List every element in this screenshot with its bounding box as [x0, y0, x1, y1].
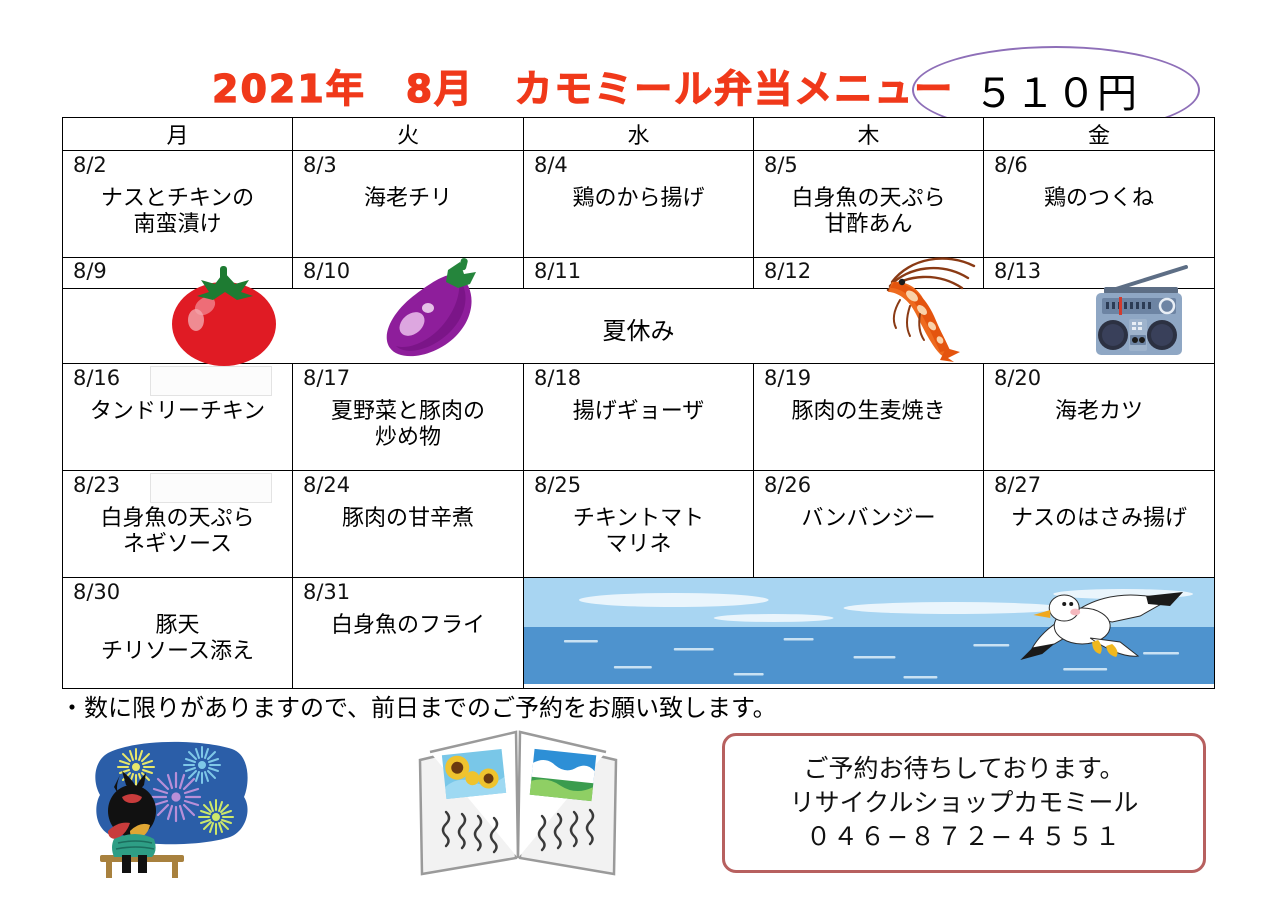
menu-cell: 8/16 タンドリーチキン	[63, 364, 293, 471]
menu-cell: 8/5 白身魚の天ぷら 甘酢あん	[754, 151, 984, 258]
table-row: 8/16 タンドリーチキン 8/17 夏野菜と豚肉の 炒め物 8/18 揚げギョ…	[63, 364, 1215, 471]
cell-dish: バンバンジー	[754, 496, 983, 532]
empty-placeholder-box	[150, 473, 272, 503]
boombox-radio-illustration	[1082, 265, 1194, 363]
eggplant-illustration	[372, 258, 492, 366]
cell-date: 8/20	[984, 364, 1214, 389]
cell-date: 8/26	[754, 471, 983, 496]
menu-cell: 8/26 バンバンジー	[754, 471, 984, 578]
table-row: 8/23 白身魚の天ぷら ネギソース 8/24 豚肉の甘辛煮 8/25 チキント…	[63, 471, 1215, 578]
cell-dish: 豚肉の生麦焼き	[754, 389, 983, 425]
menu-cell: 8/20 海老カツ	[984, 364, 1215, 471]
fireworks-yukata-girl-illustration	[80, 735, 260, 883]
cell-dish: 海老チリ	[293, 176, 523, 212]
title-bar: 2021年 8月 カモミール弁当メニュー ５１０円	[0, 24, 1280, 104]
cell-dish: 豚肉の甘辛煮	[293, 496, 523, 532]
cell-dish: 夏野菜と豚肉の 炒め物	[293, 389, 523, 451]
weekday-header-mon: 月	[63, 118, 293, 151]
table-row: 8/2 ナスとチキンの 南蛮漬け 8/3 海老チリ 8/4 鶏のから揚げ 8/5…	[63, 151, 1215, 258]
weekday-header-thu: 木	[754, 118, 984, 151]
cell-date: 8/17	[293, 364, 523, 389]
contact-phone: ０４６−８７２−４５５１	[806, 820, 1122, 854]
weekday-header-fri: 金	[984, 118, 1215, 151]
cell-date: 8/2	[63, 151, 292, 176]
menu-cell: 8/31 白身魚のフライ	[293, 578, 524, 689]
menu-cell: 8/25 チキントマト マリネ	[524, 471, 754, 578]
menu-calendar-table: 月 火 水 木 金 8/2 ナスとチキンの 南蛮漬け 8/3 海老チリ 8/4 …	[62, 117, 1215, 689]
cell-dish: ナスとチキンの 南蛮漬け	[63, 176, 292, 238]
cell-dish: 豚天 チリソース添え	[63, 603, 292, 665]
menu-cell: 8/18 揚げギョーザ	[524, 364, 754, 471]
cell-date: 8/4	[524, 151, 753, 176]
menu-cell: 8/19 豚肉の生麦焼き	[754, 364, 984, 471]
cell-date: 8/24	[293, 471, 523, 496]
cell-dish: 鶏のから揚げ	[524, 176, 753, 212]
page-title: 2021年 8月 カモミール弁当メニュー	[212, 58, 954, 113]
cell-dish: 海老カツ	[984, 389, 1214, 425]
shrimp-illustration	[862, 252, 984, 366]
weekday-header-row: 月 火 水 木 金	[63, 118, 1215, 151]
table-row: 8/30 豚天 チリソース添え 8/31 白身魚のフライ	[63, 578, 1215, 689]
contact-shop-name: リサイクルショップカモミール	[790, 786, 1139, 820]
menu-cell: 8/3 海老チリ	[293, 151, 524, 258]
cell-dish: 白身魚の天ぷら 甘酢あん	[754, 176, 983, 238]
contact-line-1: ご予約お待ちしております。	[803, 752, 1124, 786]
cell-date: 8/6	[984, 151, 1214, 176]
seagull-sea-cell	[524, 578, 1215, 689]
menu-cell: 8/27 ナスのはさみ揚げ	[984, 471, 1215, 578]
picture-diary-book-illustration	[412, 724, 624, 884]
menu-cell: 8/4 鶏のから揚げ	[524, 151, 754, 258]
cell-date: 8/19	[754, 364, 983, 389]
menu-cell: 8/6 鶏のつくね	[984, 151, 1215, 258]
cell-date: 8/27	[984, 471, 1214, 496]
cell-dish: 白身魚のフライ	[293, 603, 523, 639]
cell-date: 8/18	[524, 364, 753, 389]
empty-placeholder-box	[150, 366, 272, 396]
menu-cell: 8/23 白身魚の天ぷら ネギソース	[63, 471, 293, 578]
cell-date: 8/25	[524, 471, 753, 496]
menu-cell: 8/2 ナスとチキンの 南蛮漬け	[63, 151, 293, 258]
cell-date: 8/3	[293, 151, 523, 176]
cell-dish: 鶏のつくね	[984, 176, 1214, 212]
seagull-over-sea-illustration	[524, 578, 1214, 684]
cell-dish: ナスのはさみ揚げ	[984, 496, 1214, 532]
cell-dish: 揚げギョーザ	[524, 389, 753, 425]
menu-cell: 8/24 豚肉の甘辛煮	[293, 471, 524, 578]
weekday-header-wed: 水	[524, 118, 754, 151]
tomato-illustration	[165, 262, 283, 366]
cell-date: 8/30	[63, 578, 292, 603]
menu-cell: 8/17 夏野菜と豚肉の 炒め物	[293, 364, 524, 471]
cell-dish: 白身魚の天ぷら ネギソース	[63, 496, 292, 558]
contact-box: ご予約お待ちしております。 リサイクルショップカモミール ０４６−８７２−４５５…	[722, 733, 1206, 873]
break-date-cell: 8/11	[524, 258, 754, 289]
cell-date: 8/31	[293, 578, 523, 603]
cell-date: 8/11	[524, 258, 753, 282]
cell-date: 8/5	[754, 151, 983, 176]
reservation-note: ・数に限りがありますので、前日までのご予約をお願い致します。	[60, 688, 777, 723]
cell-dish: チキントマト マリネ	[524, 496, 753, 558]
menu-cell: 8/30 豚天 チリソース添え	[63, 578, 293, 689]
weekday-header-tue: 火	[293, 118, 524, 151]
